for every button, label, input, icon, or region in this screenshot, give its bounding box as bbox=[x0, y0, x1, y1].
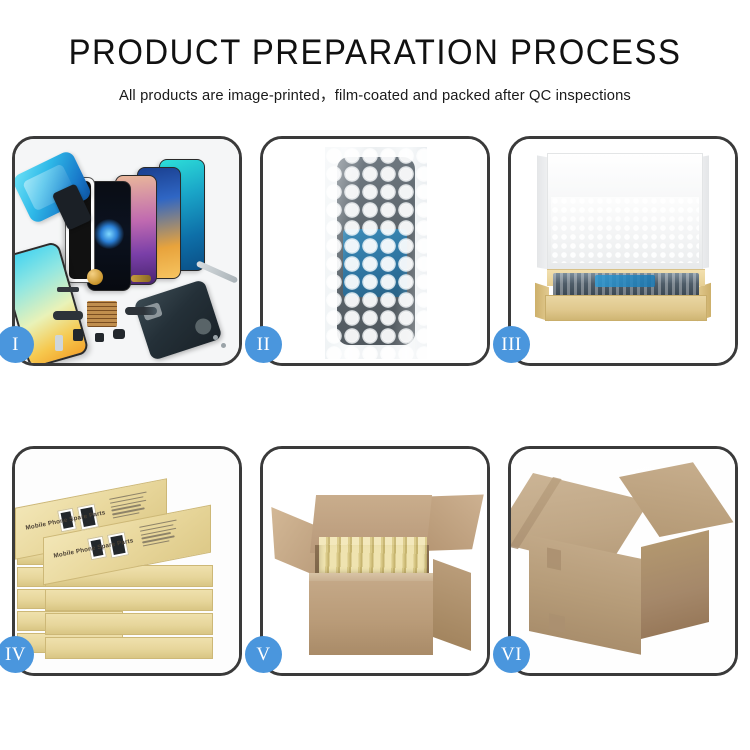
part-module-small-3 bbox=[113, 329, 125, 339]
part-sim-tray bbox=[55, 335, 63, 351]
process-step-panel-3[interactable]: III bbox=[508, 136, 738, 366]
part-flex-cable-left bbox=[53, 311, 83, 320]
carton-side-right bbox=[433, 559, 471, 651]
process-step-panel-4[interactable]: Mobile Phone Spare Parts Mobile Phone Sp… bbox=[12, 446, 242, 676]
packed-product-blue-accent bbox=[595, 275, 655, 287]
step-badge-6: VI bbox=[493, 636, 530, 673]
process-step-panel-1[interactable]: I bbox=[12, 136, 242, 366]
part-copper-mesh bbox=[87, 301, 117, 327]
header: PRODUCT PREPARATION PROCESS All products… bbox=[0, 0, 750, 105]
step-badge-3: III bbox=[493, 326, 530, 363]
retail-box-right-3 bbox=[45, 613, 213, 635]
process-step-grid: I II bbox=[12, 136, 738, 676]
process-step-panel-6[interactable]: VI bbox=[508, 446, 738, 676]
process-step-panel-2[interactable]: II bbox=[260, 136, 490, 366]
part-flex-cable-gold bbox=[131, 275, 151, 282]
retail-box-stack: Mobile Phone Spare Parts Mobile Phone Sp… bbox=[15, 449, 239, 673]
part-flex-cable-right bbox=[125, 307, 157, 315]
step-badge-5: V bbox=[245, 636, 282, 673]
mailer-tray-front bbox=[545, 295, 707, 321]
carton-front-face bbox=[309, 581, 433, 655]
step-2-image bbox=[263, 139, 487, 363]
step-5-image bbox=[263, 449, 487, 673]
retail-box-right-4 bbox=[45, 637, 213, 659]
sealed-carton-tape-lower bbox=[549, 613, 565, 632]
step-4-image: Mobile Phone Spare Parts Mobile Phone Sp… bbox=[15, 449, 239, 673]
page-subtitle: All products are image-printed，film-coat… bbox=[11, 73, 739, 105]
sealed-carton-side-face bbox=[641, 530, 709, 639]
step-badge-2: II bbox=[245, 326, 282, 363]
sealed-carton-tape-upper bbox=[547, 548, 561, 571]
step-6-image bbox=[511, 449, 735, 673]
plastic-sheen bbox=[325, 147, 427, 359]
step-1-image bbox=[15, 139, 239, 363]
part-module-small-2 bbox=[95, 333, 104, 342]
process-step-panel-5[interactable]: V bbox=[260, 446, 490, 676]
foam-liner bbox=[551, 197, 699, 263]
product-preparation-process-page: PRODUCT PREPARATION PROCESS All products… bbox=[0, 0, 750, 750]
retail-box-right-2 bbox=[45, 589, 213, 611]
part-connector-bar bbox=[57, 287, 79, 292]
part-module-small-1 bbox=[73, 329, 83, 341]
part-gold-coil bbox=[87, 269, 103, 285]
part-screw-1 bbox=[213, 335, 218, 340]
part-screw-2 bbox=[221, 343, 226, 348]
step-3-image bbox=[511, 139, 735, 363]
page-title: PRODUCT PREPARATION PROCESS bbox=[23, 0, 728, 73]
